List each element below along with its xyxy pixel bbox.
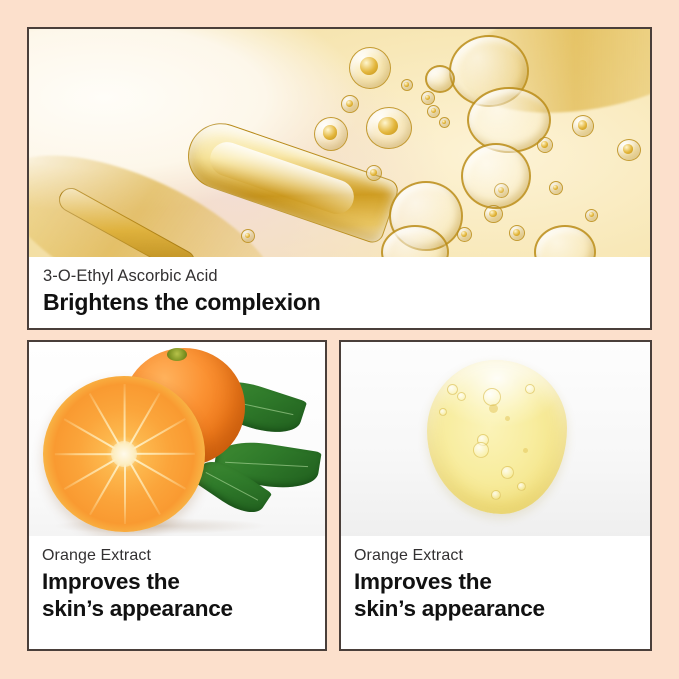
orange-core bbox=[111, 441, 137, 467]
gel-droplet-image bbox=[341, 342, 650, 536]
oil-bubble-ring bbox=[425, 65, 455, 93]
gel-bubble bbox=[473, 442, 489, 458]
gel-bubble bbox=[525, 384, 535, 394]
ingredient-benefits-infographic: 3-O-Ethyl Ascorbic Acid Brightens the co… bbox=[0, 0, 679, 679]
oil-bubble-ring bbox=[534, 225, 596, 257]
card-text-block: Orange Extract Improves the skin’s appea… bbox=[341, 536, 650, 649]
oil-bubble-ring bbox=[461, 143, 531, 209]
ingredient-card-ethyl-ascorbic-acid: 3-O-Ethyl Ascorbic Acid Brightens the co… bbox=[27, 27, 652, 330]
oil-bubble bbox=[572, 115, 594, 137]
oil-bubble-ring bbox=[467, 87, 551, 153]
ingredient-name: Orange Extract bbox=[42, 546, 312, 566]
oil-bubble bbox=[617, 139, 641, 161]
benefit-headline: Brightens the complexion bbox=[43, 289, 636, 316]
ingredient-card-orange-extract-fruit: Orange Extract Improves the skin’s appea… bbox=[27, 340, 327, 651]
gel-bubble bbox=[501, 466, 514, 479]
oil-bubble bbox=[549, 181, 563, 195]
ingredient-name: 3-O-Ethyl Ascorbic Acid bbox=[43, 266, 636, 286]
oil-bubble bbox=[509, 225, 525, 241]
gel-bubble bbox=[491, 490, 501, 500]
gel-dot bbox=[523, 448, 528, 453]
ingredient-name: Orange Extract bbox=[354, 546, 637, 566]
oil-bubble bbox=[349, 47, 391, 89]
oil-bubble bbox=[241, 229, 255, 243]
halved-orange bbox=[43, 376, 205, 532]
benefit-headline-line2: skin’s appearance bbox=[42, 595, 312, 622]
gel-droplet bbox=[427, 360, 567, 514]
card-text-block: Orange Extract Improves the skin’s appea… bbox=[29, 536, 325, 649]
gel-bubble bbox=[447, 384, 458, 395]
orange-fruit-image bbox=[29, 342, 325, 536]
orange-stem bbox=[167, 348, 187, 361]
gel-background bbox=[341, 342, 650, 536]
oil-bubble bbox=[401, 79, 413, 91]
oil-bubble bbox=[314, 117, 348, 151]
oil-bubble bbox=[421, 91, 435, 105]
ingredient-card-orange-extract-gel: Orange Extract Improves the skin’s appea… bbox=[339, 340, 652, 651]
gel-bubble bbox=[439, 408, 447, 416]
serum-oil-image bbox=[29, 29, 650, 257]
serum-background bbox=[29, 29, 650, 257]
benefit-headline-line1: Improves the bbox=[354, 568, 637, 595]
oil-bubble bbox=[341, 95, 359, 113]
oil-bubble bbox=[439, 117, 450, 128]
gel-bubble bbox=[517, 482, 526, 491]
fruit-background bbox=[29, 342, 325, 536]
benefit-headline-line2: skin’s appearance bbox=[354, 595, 637, 622]
gel-dot bbox=[505, 416, 510, 421]
gel-dot bbox=[489, 404, 498, 413]
card-text-block: 3-O-Ethyl Ascorbic Acid Brightens the co… bbox=[29, 257, 650, 328]
gel-bubble bbox=[457, 392, 466, 401]
benefit-headline-line1: Improves the bbox=[42, 568, 312, 595]
oil-bubble bbox=[366, 107, 412, 149]
oil-bubble bbox=[585, 209, 598, 222]
oil-bubble bbox=[427, 105, 440, 118]
oil-bubble bbox=[366, 165, 382, 181]
